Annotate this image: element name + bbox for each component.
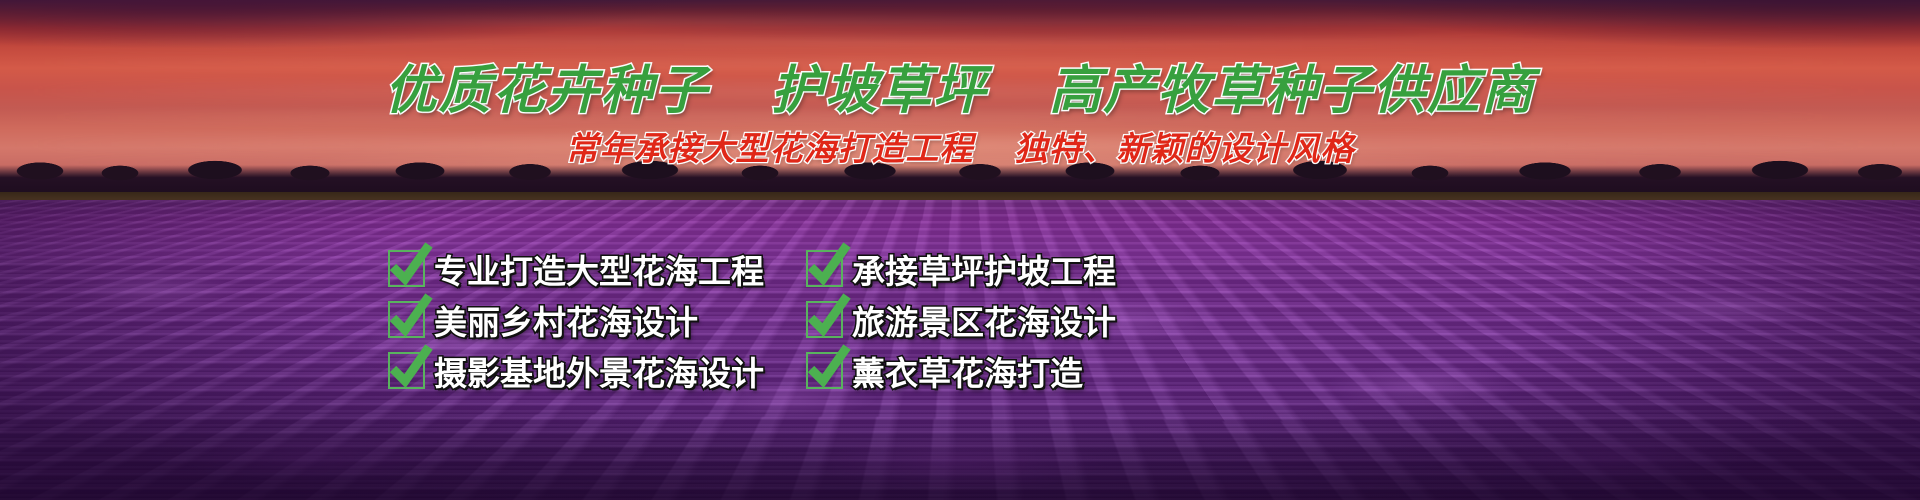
banner-headline: 优质花卉种子 护坡草坪 高产牧草种子供应商 — [0, 48, 1920, 123]
feature-row: 摄影基地外景花海设计 薰衣草花海打造 — [388, 345, 1148, 396]
banner-content: 优质花卉种子 护坡草坪 高产牧草种子供应商 常年承接大型花海打造工程 独特、新颖… — [0, 0, 1920, 500]
feature-label: 专业打造大型花海工程 — [434, 245, 764, 293]
feature-item: 旅游景区花海设计 — [806, 296, 1148, 344]
feature-label: 薰衣草花海打造 — [852, 347, 1083, 395]
feature-label: 承接草坪护坡工程 — [852, 245, 1116, 293]
feature-item: 薰衣草花海打造 — [806, 347, 1148, 395]
feature-item: 摄影基地外景花海设计 — [388, 347, 806, 395]
checkmark-icon — [806, 250, 843, 287]
checkmark-icon — [806, 352, 843, 389]
subheadline-part-1: 常年承接大型花海打造工程 — [566, 129, 974, 168]
promotional-banner: 优质花卉种子 护坡草坪 高产牧草种子供应商 常年承接大型花海打造工程 独特、新颖… — [0, 0, 1920, 500]
checkmark-icon — [388, 250, 425, 287]
headline-part-3: 高产牧草种子供应商 — [1049, 60, 1535, 121]
checkmark-icon — [388, 301, 425, 338]
feature-label: 旅游景区花海设计 — [852, 296, 1116, 344]
feature-label: 美丽乡村花海设计 — [434, 296, 698, 344]
feature-item: 承接草坪护坡工程 — [806, 245, 1148, 293]
feature-list: 专业打造大型花海工程 承接草坪护坡工程 — [388, 243, 1148, 396]
feature-row: 美丽乡村花海设计 旅游景区花海设计 — [388, 294, 1148, 345]
feature-row: 专业打造大型花海工程 承接草坪护坡工程 — [388, 243, 1148, 294]
feature-label: 摄影基地外景花海设计 — [434, 347, 764, 395]
headline-part-2: 护坡草坪 — [771, 60, 987, 121]
feature-item: 美丽乡村花海设计 — [388, 296, 806, 344]
feature-item: 专业打造大型花海工程 — [388, 245, 806, 293]
checkmark-icon — [388, 352, 425, 389]
headline-part-1: 优质花卉种子 — [385, 60, 709, 121]
banner-subheadline: 常年承接大型花海打造工程 独特、新颖的设计风格 — [0, 122, 1920, 170]
checkmark-icon — [806, 301, 843, 338]
subheadline-part-2: 独特、新颖的设计风格 — [1015, 129, 1355, 168]
